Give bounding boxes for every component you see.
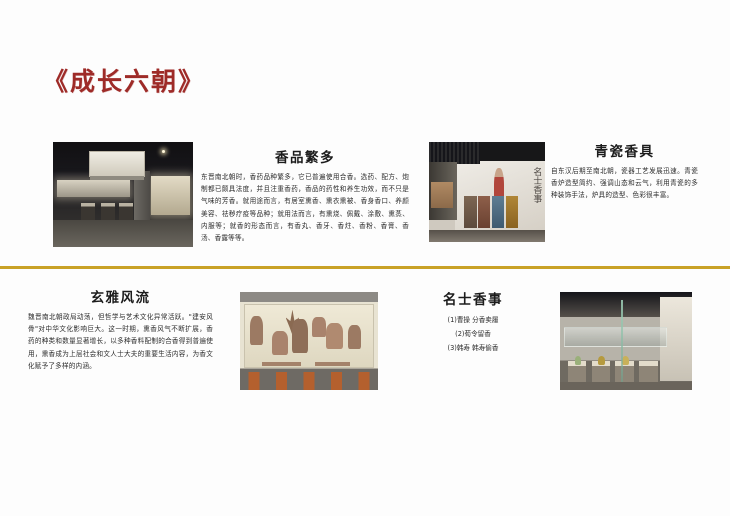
photo-content (560, 292, 692, 390)
exhibit-table (639, 361, 657, 383)
ceiling-spotlight-icon (162, 150, 165, 153)
relief-figure (348, 325, 362, 349)
ceramic-vessel (598, 356, 605, 365)
photo-content (53, 142, 193, 247)
relief-figure (312, 317, 326, 337)
gallery-floor (560, 382, 692, 390)
framed-artwork (431, 182, 453, 208)
list-item: (2)荀令留香 (408, 327, 538, 341)
hanging-banner (89, 151, 145, 176)
block-heading-xuanya: 玄雅风流 (28, 286, 213, 306)
text-block-xuanya: 玄雅风流 魏晋南北朝政局动荡，但哲学与艺术文化异常活跃。"建安风骨"对中华文化影… (28, 286, 213, 372)
text-block-qingci: 青瓷香具 自东汉后期至南北朝，瓷器工艺发展迅速。青瓷香炉造型简约、强调山态和云气… (551, 140, 698, 202)
museum-hall-photo (53, 142, 193, 247)
text-block-mingshi: 名士香事 (1)曹操 分香卖履 (2)荀令留香 (3)韩寿 韩寿偷香 (408, 288, 538, 356)
exhibit-panel (492, 196, 505, 228)
list-item: (3)韩寿 韩寿偷香 (408, 341, 538, 355)
seating-row (240, 372, 378, 390)
calligraphy-wall-photo: 名士香事 (429, 142, 545, 242)
exhibit-plinth (81, 203, 95, 220)
block-body-xuanya: 魏晋南北朝政局动荡，但哲学与艺术文化异常活跃。"建安风骨"对中华文化影响巨大。这… (28, 311, 213, 372)
block-body-qingci: 自东汉后期至南北朝，瓷器工艺发展迅速。青瓷香炉造型简约、强调山态和云气，利用青瓷… (551, 165, 698, 202)
mingshi-item-list: (1)曹操 分香卖履 (2)荀令留香 (3)韩寿 韩寿偷香 (408, 313, 538, 356)
list-item: (1)曹操 分香卖履 (408, 313, 538, 327)
exhibit-plinth (119, 203, 133, 220)
relief-platform (262, 362, 301, 367)
photo-content (240, 292, 378, 390)
page-title: 《成长六朝》 (43, 62, 205, 98)
photo-content: 名士香事 (429, 142, 545, 242)
wall-calligraphy-text: 名士香事 (515, 154, 541, 216)
block-heading-qingci: 青瓷香具 (551, 140, 698, 160)
exhibit-panel (464, 196, 477, 228)
gallery-floor (429, 230, 545, 242)
section-divider (0, 266, 730, 269)
relief-figure (250, 316, 264, 345)
presentation-slide: 《成长六朝》 香品繁多 东晋南北朝时，香药品种繁多，它已普遍使用合香。选药、配方… (0, 0, 730, 516)
relief-figure (326, 323, 344, 348)
relief-platform (315, 362, 351, 367)
block-heading-xiangpin: 香品繁多 (201, 146, 409, 166)
right-display-case (151, 176, 190, 216)
gallery-floor (53, 220, 193, 247)
glass-display-room-photo (560, 292, 692, 390)
relief-figure (272, 331, 289, 355)
block-heading-mingshi: 名士香事 (408, 288, 538, 308)
ceramic-vessel (575, 356, 582, 365)
glass-partition (621, 300, 624, 382)
exhibit-panel (478, 196, 491, 228)
grid-ceiling (429, 142, 480, 164)
back-display-case (57, 180, 130, 197)
relief-mural-photo (240, 292, 378, 390)
exhibit-plinth (101, 203, 115, 220)
display-case-row (564, 327, 667, 347)
relief-figure (292, 319, 307, 352)
block-body-xiangpin: 东晋南北朝时，香药品种繁多，它已普遍使用合香。选药、配方、炮制都已颇具法度，并且… (201, 171, 409, 244)
text-block-xiangpin: 香品繁多 东晋南北朝时，香药品种繁多，它已普遍使用合香。选药、配方、炮制都已颇具… (201, 146, 409, 244)
